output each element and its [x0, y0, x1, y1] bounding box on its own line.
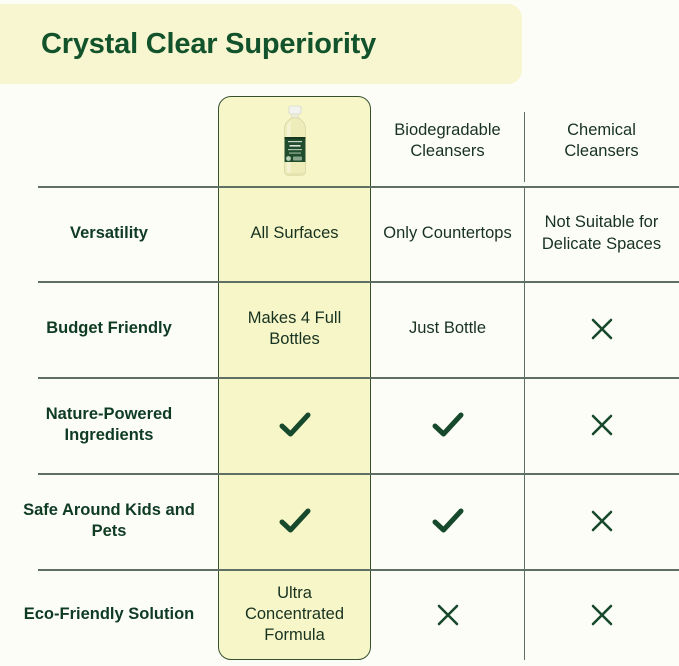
cross-icon: [587, 506, 617, 536]
column-divider: [524, 186, 525, 281]
cell-ours: All Surfaces: [218, 186, 371, 281]
check-icon: [275, 408, 315, 442]
header-attribute-cell: [0, 96, 218, 186]
header-ours-cell: [218, 96, 371, 186]
cell-ours: [218, 473, 371, 569]
column-divider: [524, 377, 525, 473]
cell-biodegradable: [371, 473, 524, 569]
row-divider: [38, 281, 679, 283]
check-icon: [428, 408, 468, 442]
table-row: Safe Around Kids and Pets: [0, 473, 679, 569]
cell-biodegradable: [371, 377, 524, 473]
column-divider: [524, 473, 525, 569]
column-divider: [524, 281, 525, 377]
row-divider: [38, 473, 679, 475]
product-bottle-image: [277, 105, 313, 177]
cell-biodegradable: Just Bottle: [371, 281, 524, 377]
comparison-table: Biodegradable Cleansers Chemical Cleanse…: [0, 96, 679, 660]
cell-chemical: [524, 569, 679, 660]
header-chemical-cell: Chemical Cleansers: [524, 96, 679, 186]
row-divider: [38, 377, 679, 379]
cell-ours: Makes 4 Full Bottles: [218, 281, 371, 377]
row-label: Safe Around Kids and Pets: [0, 473, 218, 569]
table-header-row: Biodegradable Cleansers Chemical Cleanse…: [0, 96, 679, 186]
header-biodegradable-cell: Biodegradable Cleansers: [371, 96, 524, 186]
table-row: Budget Friendly Makes 4 Full Bottles Jus…: [0, 281, 679, 377]
table-row: Versatility All Surfaces Only Countertop…: [0, 186, 679, 281]
row-label: Versatility: [0, 186, 218, 281]
cell-biodegradable: [371, 569, 524, 660]
cross-icon: [433, 600, 463, 630]
cell-ours: Ultra Concentrated Formula: [218, 569, 371, 660]
cell-biodegradable: Only Countertops: [371, 186, 524, 281]
row-divider: [38, 186, 679, 188]
check-icon: [428, 504, 468, 538]
row-divider: [38, 569, 679, 571]
row-label: Budget Friendly: [0, 281, 218, 377]
cross-icon: [587, 600, 617, 630]
table-row: Nature-Powered Ingredients: [0, 377, 679, 473]
table-row: Eco-Friendly Solution Ultra Concentrated…: [0, 569, 679, 660]
cell-ours: [218, 377, 371, 473]
column-divider: [524, 569, 525, 660]
cell-chemical: [524, 377, 679, 473]
column-divider: [524, 112, 525, 182]
row-label: Eco-Friendly Solution: [0, 569, 218, 660]
check-icon: [275, 504, 315, 538]
page-title: Crystal Clear Superiority: [0, 28, 376, 61]
cross-icon: [587, 410, 617, 440]
cell-chemical: [524, 473, 679, 569]
title-banner: Crystal Clear Superiority: [0, 4, 522, 84]
cell-chemical: Not Suitable for Delicate Spaces: [524, 186, 679, 281]
cross-icon: [587, 314, 617, 344]
row-label: Nature-Powered Ingredients: [0, 377, 218, 473]
cell-chemical: [524, 281, 679, 377]
